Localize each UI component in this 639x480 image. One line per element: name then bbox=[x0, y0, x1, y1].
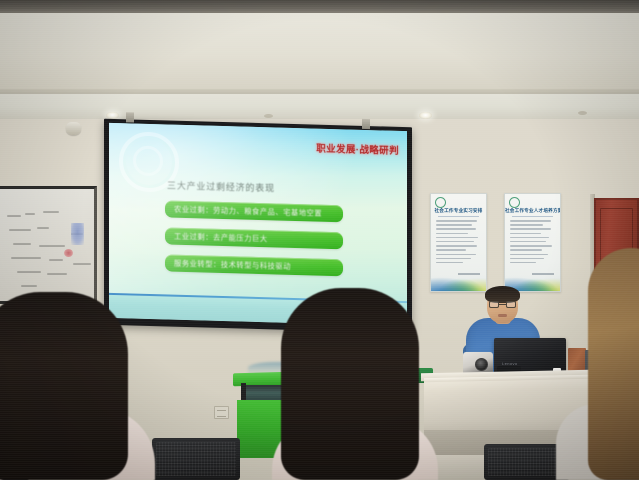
emblem-seal-icon bbox=[509, 197, 520, 208]
wall-poster: 社会工作专业实习安排 bbox=[430, 193, 487, 292]
screen-mount bbox=[126, 112, 134, 122]
ceiling-vent-icon bbox=[578, 111, 587, 115]
slide-background: 职业发展·战略研判 三大产业过剩经济的表现 农业过剩：劳动力、粮食产品、宅基地空… bbox=[109, 123, 407, 303]
whiteboard-red-mark bbox=[64, 249, 73, 257]
student-hair bbox=[0, 292, 128, 480]
slide-bullet-bar: 农业过剩：劳动力、粮食产品、宅基地空置 bbox=[165, 200, 343, 222]
student-hair bbox=[588, 248, 639, 480]
emblem-seal-icon bbox=[435, 197, 446, 208]
slide-title: 职业发展·战略研判 bbox=[316, 141, 399, 157]
wall-poster: 社会工作专业人才培养方案 bbox=[504, 193, 561, 292]
ceiling-beam bbox=[0, 0, 639, 14]
smoke-detector-icon bbox=[66, 122, 81, 135]
classroom-whiteboard bbox=[0, 186, 97, 304]
eyeglasses-icon bbox=[489, 301, 516, 308]
ceiling-panel bbox=[0, 13, 639, 91]
ceiling-downlight bbox=[419, 112, 432, 119]
classroom-chair bbox=[152, 438, 240, 480]
slide-bullet-label: 农业过剩：劳动力、粮食产品、宅基地空置 bbox=[165, 204, 322, 218]
ceiling-vent-icon bbox=[264, 114, 273, 118]
poster-text-block bbox=[510, 220, 555, 266]
slide-bullet-label: 服务业转型：技术转型与科技驱动 bbox=[165, 258, 291, 272]
wall-power-socket[interactable] bbox=[214, 406, 229, 419]
camera-lens-icon bbox=[475, 358, 488, 371]
poster-divider bbox=[512, 216, 553, 217]
student-hair bbox=[281, 288, 419, 480]
ceiling-soffit bbox=[0, 94, 639, 120]
poster-wave-graphic bbox=[431, 275, 486, 291]
screen-mount bbox=[362, 119, 370, 129]
poster-title: 社会工作专业实习安排 bbox=[431, 208, 486, 214]
slide-bullet-label: 工业过剩：去产能压力巨大 bbox=[165, 231, 268, 244]
slide-bullet-bar: 工业过剩：去产能压力巨大 bbox=[165, 227, 343, 249]
poster-divider bbox=[438, 216, 479, 217]
whiteboard-blue-mark bbox=[71, 223, 84, 245]
presenter-mouth bbox=[498, 314, 507, 317]
poster-text-block bbox=[436, 220, 481, 266]
slide-bullet-bar: 服务业转型：技术转型与科技驱动 bbox=[165, 254, 343, 276]
classroom-photo: 职业发展·战略研判 三大产业过剩经济的表现 农业过剩：劳动力、粮食产品、宅基地空… bbox=[0, 0, 639, 480]
poster-title: 社会工作专业人才培养方案 bbox=[505, 208, 560, 214]
slide-heading: 三大产业过剩经济的表现 bbox=[167, 178, 275, 194]
